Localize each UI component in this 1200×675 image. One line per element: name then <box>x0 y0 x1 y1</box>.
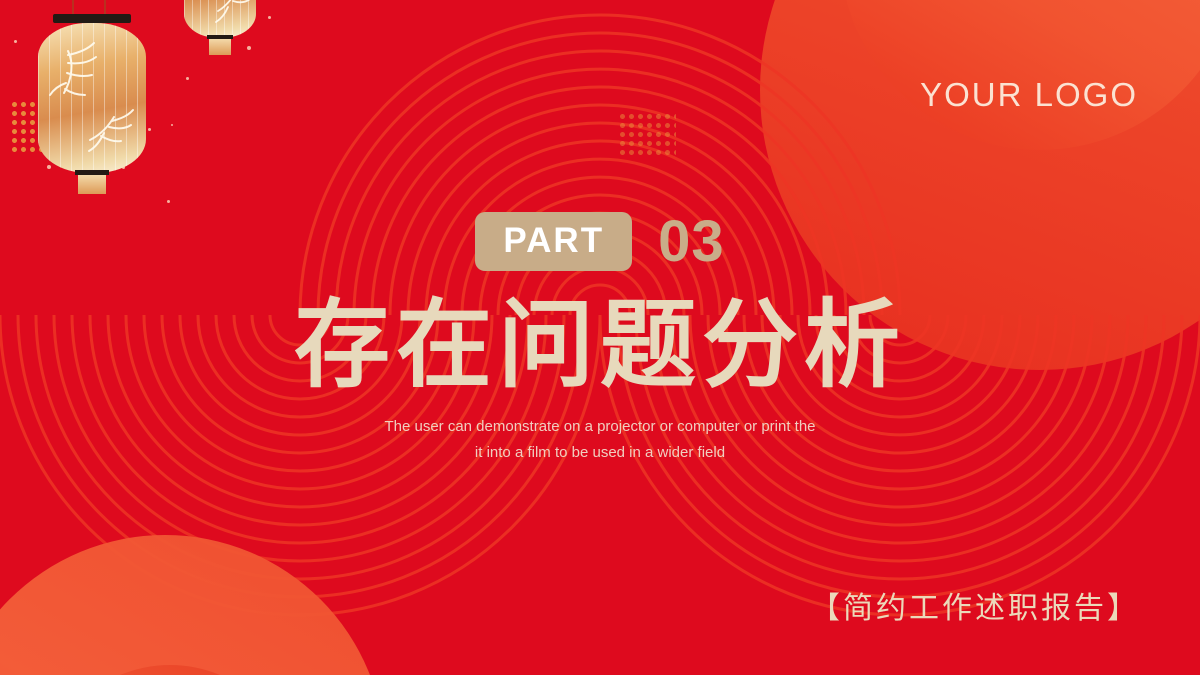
part-label-badge: PART <box>475 212 632 271</box>
bamboo-leaf-pattern <box>38 23 146 173</box>
lantern-right-icon <box>184 0 256 70</box>
presentation-slide: YOUR LOGO PART 03 存在问题分析 The user can de… <box>0 0 1200 675</box>
sparkle-dot <box>14 40 17 43</box>
page-title: 存在问题分析 <box>0 296 1200 397</box>
sparkle-dot <box>171 124 173 126</box>
subtitle-text: The user can demonstrate on a projector … <box>0 414 1200 467</box>
sparkle-dot <box>167 200 170 203</box>
dot-grid-right-pattern <box>618 112 676 157</box>
footer-tag: 【简约工作述职报告】 <box>810 583 1140 627</box>
sparkle-dot <box>268 16 271 19</box>
logo-text: YOUR LOGO <box>920 76 1138 114</box>
ring-inner-top-right-shape <box>840 0 1200 150</box>
circle-inner-bottom-left-shape <box>40 665 300 675</box>
part-number: 03 <box>658 213 725 271</box>
subtitle-line-2: it into a film to be used in a wider fie… <box>0 440 1200 466</box>
bamboo-leaf-pattern <box>184 0 256 38</box>
sparkle-dot <box>186 77 189 80</box>
lantern-left-icon <box>38 14 146 189</box>
circle-outer-bottom-left-shape <box>0 535 385 675</box>
subtitle-line-1: The user can demonstrate on a projector … <box>0 414 1200 440</box>
sparkle-dot <box>148 128 151 131</box>
part-heading-row: PART 03 <box>0 212 1200 271</box>
